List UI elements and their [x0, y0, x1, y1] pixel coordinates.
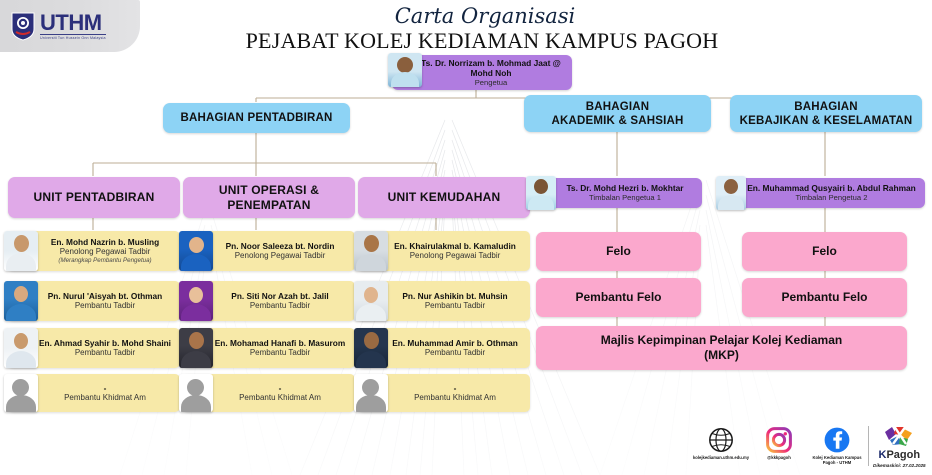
- website-link[interactable]: kolejkediaman.uthm.edu.my: [692, 422, 750, 460]
- felo-label: Felo: [606, 244, 631, 259]
- felo-box-kebajikan[interactable]: Felo: [742, 232, 907, 271]
- division-label-line2: AKADEMIK & SAHSIAH: [551, 114, 683, 128]
- uthm-subtext: Universiti Tun Hussein Onn Malaysia: [40, 34, 106, 40]
- principal-name: Ts. Dr. Norrizam b. Mohmad Jaat @ Mohd N…: [414, 58, 568, 78]
- website-caption: kolejkediaman.uthm.edu.my: [692, 455, 750, 460]
- division-label: BAHAGIAN PENTADBIRAN: [180, 111, 332, 125]
- principal-role: Pengetua: [414, 78, 568, 88]
- division-label-line1: BAHAGIAN: [794, 100, 858, 114]
- unit-box-pentadbiran[interactable]: UNIT PENTADBIRAN: [8, 177, 180, 218]
- staff-photo: [354, 281, 388, 321]
- kk-pagoh-mark-icon: [882, 424, 916, 448]
- page-title: PEJABAT KOLEJ KEDIAMAN KAMPUS PAGOH: [232, 28, 732, 54]
- staff-photo-placeholder: [4, 374, 38, 412]
- staff-name: En. Mohamad Hanafi b. Masurom: [209, 338, 351, 349]
- deputy-card-2[interactable]: En. Muhammad Qusyairi b. Abdul Rahman Ti…: [720, 178, 925, 208]
- org-chart-page: UTHM Universiti Tun Hussein Onn Malaysia…: [0, 0, 932, 475]
- deputy-name: En. Muhammad Qusyairi b. Abdul Rahman: [742, 183, 921, 193]
- pagoh-text: Pagoh: [886, 449, 920, 461]
- deputy-photo: [716, 176, 746, 210]
- staff-card[interactable]: En. Muhammad Amir b. Othman Pembantu Tad…: [358, 328, 530, 368]
- felo-box-akademik[interactable]: Felo: [536, 232, 701, 271]
- staff-role: Pembantu Khidmat Am: [34, 393, 176, 403]
- unit-label-line1: UNIT PENTADBIRAN: [34, 190, 155, 205]
- instagram-caption: @kkkpagoh: [750, 455, 808, 460]
- staff-name: Pn. Noor Saleeza bt. Nordin: [209, 241, 351, 252]
- staff-role: Pembantu Khidmat Am: [384, 393, 526, 403]
- staff-role: Penolong Pegawai Tadbir: [384, 251, 526, 261]
- staff-name: Pn. Nur Ashikin bt. Muhsin: [384, 291, 526, 302]
- division-box-akademik[interactable]: BAHAGIAN AKADEMIK & SAHSIAH: [524, 95, 711, 132]
- unit-box-operasi-penempatan[interactable]: UNIT OPERASI & PENEMPATAN: [183, 177, 355, 218]
- staff-photo-placeholder: [354, 374, 388, 412]
- staff-card[interactable]: - Pembantu Khidmat Am: [183, 374, 355, 412]
- staff-role: Pembantu Tadbir: [384, 348, 526, 358]
- staff-card[interactable]: Pn. Nur Ashikin bt. Muhsin Pembantu Tadb…: [358, 281, 530, 321]
- staff-name: -: [209, 383, 351, 394]
- deputy-card-1[interactable]: Ts. Dr. Mohd Hezri b. Mokhtar Timbalan P…: [530, 178, 702, 208]
- deputy-role: Timbalan Pengetua 2: [742, 193, 921, 203]
- deputy-role: Timbalan Pengetua 1: [552, 193, 698, 203]
- staff-photo: [354, 231, 388, 271]
- staff-photo: [4, 231, 38, 271]
- mkp-label-line2: (MKP): [704, 348, 739, 363]
- staff-role: Pembantu Khidmat Am: [209, 393, 351, 403]
- mkp-box[interactable]: Majlis Kepimpinan Pelajar Kolej Kediaman…: [536, 326, 907, 370]
- pembantu-felo-box-kebajikan[interactable]: Pembantu Felo: [742, 278, 907, 317]
- staff-role: Penolong Pegawai Tadbir: [209, 251, 351, 261]
- pagoh-logo: K Pagoh Dikemaskini: 27.02.2025: [873, 422, 926, 468]
- division-label-line1: BAHAGIAN: [586, 100, 650, 114]
- staff-photo: [354, 328, 388, 368]
- unit-box-kemudahan[interactable]: UNIT KEMUDAHAN: [358, 177, 530, 218]
- uthm-wordmark: UTHM: [40, 12, 102, 34]
- title-script: Carta Organisasi: [255, 4, 715, 28]
- facebook-icon: [824, 427, 850, 453]
- principal-card[interactable]: Ts. Dr. Norrizam b. Mohmad Jaat @ Mohd N…: [392, 55, 572, 90]
- staff-role: Pembantu Tadbir: [34, 348, 176, 358]
- principal-photo: [388, 53, 422, 87]
- staff-role: Pembantu Tadbir: [34, 301, 176, 311]
- division-label-line2: KEBAJIKAN & KESELAMATAN: [740, 114, 913, 128]
- staff-name: En. Khairulakmal b. Kamaludin: [384, 241, 526, 252]
- facebook-caption: Kolej Kediaman Kampus Pagoh - UTHM: [808, 455, 866, 466]
- staff-photo: [179, 328, 213, 368]
- pembantu-felo-label: Pembantu Felo: [781, 290, 867, 305]
- staff-role: Penolong Pegawai Tadbir: [34, 247, 176, 257]
- staff-card[interactable]: En. Khairulakmal b. Kamaludin Penolong P…: [358, 231, 530, 271]
- staff-card[interactable]: En. Mohd Nazrin b. Musling Penolong Pega…: [8, 231, 180, 271]
- uthm-logo-plate: UTHM Universiti Tun Hussein Onn Malaysia: [0, 0, 140, 52]
- pembantu-felo-label: Pembantu Felo: [575, 290, 661, 305]
- staff-card[interactable]: Pn. Noor Saleeza bt. Nordin Penolong Peg…: [183, 231, 355, 271]
- staff-photo: [179, 231, 213, 271]
- staff-role: Pembantu Tadbir: [209, 301, 351, 311]
- uthm-crest-icon: [10, 11, 36, 41]
- footer-divider: [868, 426, 869, 466]
- staff-role: Pembantu Tadbir: [209, 348, 351, 358]
- division-box-kebajikan[interactable]: BAHAGIAN KEBAJIKAN & KESELAMATAN: [730, 95, 922, 132]
- staff-card[interactable]: Pn. Siti Nor Azah bt. Jalil Pembantu Tad…: [183, 281, 355, 321]
- footer-bar: kolejkediaman.uthm.edu.my @kkkpagoh: [692, 422, 932, 475]
- division-box-pentadbiran[interactable]: BAHAGIAN PENTADBIRAN: [163, 103, 350, 133]
- staff-card[interactable]: En. Mohamad Hanafi b. Masurom Pembantu T…: [183, 328, 355, 368]
- staff-role: Pembantu Tadbir: [384, 301, 526, 311]
- staff-name: En. Mohd Nazrin b. Musling: [34, 237, 176, 248]
- staff-card[interactable]: - Pembantu Khidmat Am: [8, 374, 180, 412]
- staff-card[interactable]: En. Ahmad Syahir b. Mohd Shaini Pembantu…: [8, 328, 180, 368]
- pagoh-k-mark: K: [879, 449, 886, 461]
- staff-name: Pn. Siti Nor Azah bt. Jalil: [209, 291, 351, 302]
- staff-name: Pn. Nurul 'Aisyah bt. Othman: [34, 291, 176, 302]
- instagram-icon: [766, 427, 792, 453]
- staff-note: (Merangkap Pembantu Pengetua): [34, 257, 176, 265]
- deputy-name: Ts. Dr. Mohd Hezri b. Mokhtar: [552, 183, 698, 193]
- staff-name: En. Ahmad Syahir b. Mohd Shaini: [34, 338, 176, 349]
- staff-name: En. Muhammad Amir b. Othman: [384, 338, 526, 349]
- deputy-photo: [526, 176, 556, 210]
- felo-label: Felo: [812, 244, 837, 259]
- staff-name: -: [384, 383, 526, 394]
- staff-photo: [179, 281, 213, 321]
- facebook-link[interactable]: Kolej Kediaman Kampus Pagoh - UTHM: [808, 422, 866, 466]
- unit-label-line1: UNIT OPERASI &: [219, 183, 319, 198]
- staff-photo: [4, 281, 38, 321]
- mkp-label-line1: Majlis Kepimpinan Pelajar Kolej Kediaman: [601, 333, 842, 348]
- globe-icon: [708, 427, 734, 453]
- updated-date: Dikemaskini: 27.02.2025: [873, 463, 926, 468]
- staff-photo-placeholder: [179, 374, 213, 412]
- unit-label-line1: UNIT KEMUDAHAN: [388, 190, 501, 205]
- instagram-link[interactable]: @kkkpagoh: [750, 422, 808, 460]
- staff-card[interactable]: Pn. Nurul 'Aisyah bt. Othman Pembantu Ta…: [8, 281, 180, 321]
- staff-photo: [4, 328, 38, 368]
- staff-name: -: [34, 383, 176, 394]
- unit-label-line2: PENEMPATAN: [227, 198, 310, 213]
- staff-card[interactable]: - Pembantu Khidmat Am: [358, 374, 530, 412]
- pembantu-felo-box-akademik[interactable]: Pembantu Felo: [536, 278, 701, 317]
